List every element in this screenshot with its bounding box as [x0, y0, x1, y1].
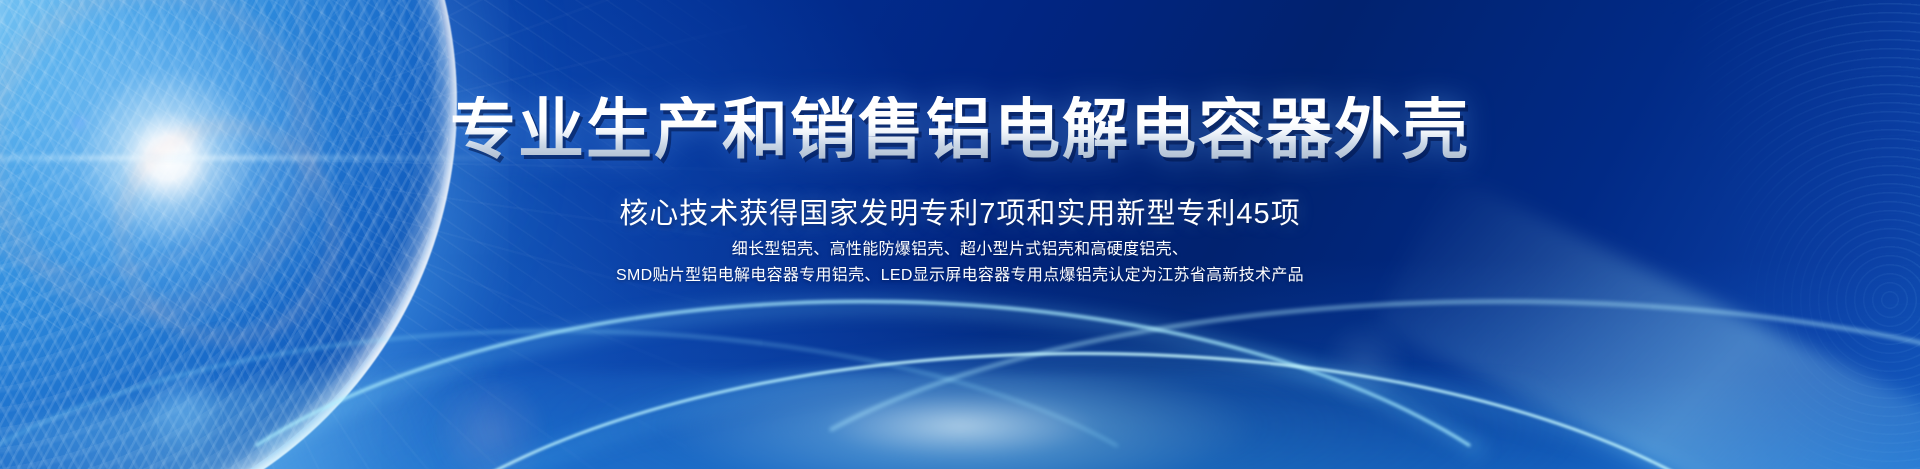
banner-title: 专业生产和销售铝电解电容器外壳 — [450, 96, 1470, 162]
banner-detail-line-1: 细长型铝壳、高性能防爆铝壳、超小型片式铝壳和高硬度铝壳、 — [616, 237, 1304, 263]
banner-subtitle: 核心技术获得国家发明专利7项和实用新型专利45项 — [619, 190, 1300, 232]
banner-detail-text: 细长型铝壳、高性能防爆铝壳、超小型片式铝壳和高硬度铝壳、 SMD贴片型铝电解电容… — [616, 237, 1304, 289]
banner-content: 专业生产和销售铝电解电容器外壳 核心技术获得国家发明专利7项和实用新型专利45项… — [0, 0, 1920, 469]
hero-banner: 专业生产和销售铝电解电容器外壳 核心技术获得国家发明专利7项和实用新型专利45项… — [0, 0, 1920, 469]
banner-detail-line-2: SMD贴片型铝电解电容器专用铝壳、LED显示屏电容器专用点爆铝壳认定为江苏省高新… — [616, 263, 1304, 289]
